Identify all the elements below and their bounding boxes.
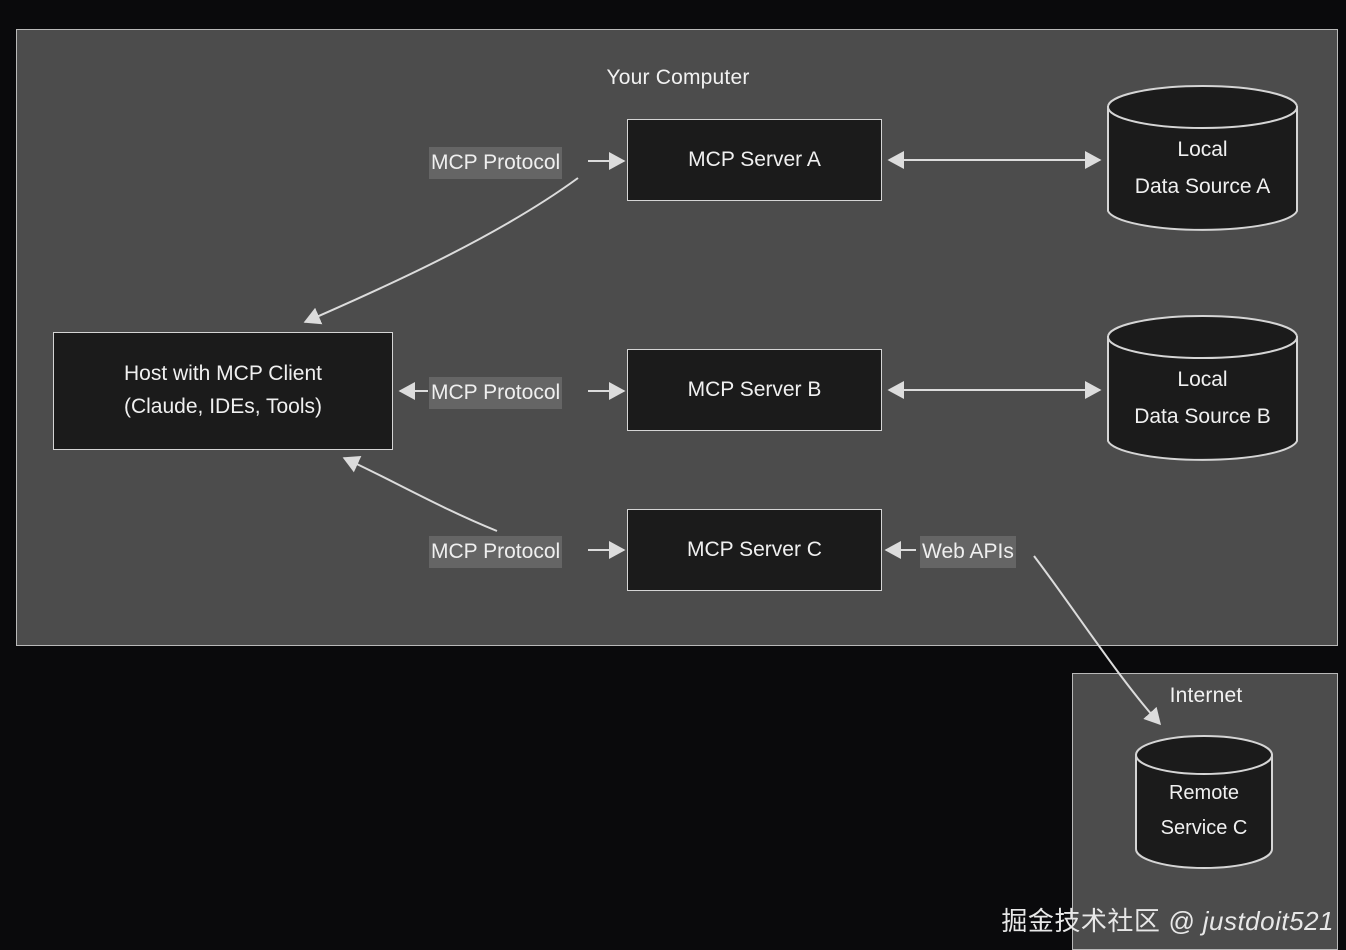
mcp-server-c-label: MCP Server C [687,534,822,567]
node-mcp-server-a[interactable]: MCP Server A [627,119,882,201]
data-source-a-line1: Local [1177,132,1227,169]
remote-service-c-line1: Remote [1169,776,1239,811]
node-local-data-source-b[interactable]: Local Data Source B [1107,315,1298,463]
edge-protocol-a-to-host [305,178,578,322]
node-host-with-mcp-client[interactable]: Host with MCP Client (Claude, IDEs, Tool… [53,332,393,450]
remote-service-c-line2: Service C [1161,811,1248,846]
host-line2: (Claude, IDEs, Tools) [124,391,322,424]
watermark: 掘金技术社区 @ justdoit521 [1001,901,1334,938]
edge-protocol-c-to-host [344,458,497,531]
edge-label-mcp-protocol-a: MCP Protocol [429,147,562,179]
node-mcp-server-c[interactable]: MCP Server C [627,509,882,591]
mcp-server-a-label: MCP Server A [688,144,821,177]
edge-label-mcp-protocol-b: MCP Protocol [429,377,562,409]
data-source-b-line2: Data Source B [1134,399,1271,436]
node-remote-service-c[interactable]: Remote Service C [1135,735,1273,869]
host-line1: Host with MCP Client [124,358,322,391]
data-source-b-line1: Local [1177,362,1227,399]
watermark-handle: @ justdoit521 [1168,906,1334,936]
data-source-a-line2: Data Source A [1135,169,1270,206]
edge-web-apis-to-remote-service-c [1034,556,1160,724]
node-mcp-server-b[interactable]: MCP Server B [627,349,882,431]
node-local-data-source-a[interactable]: Local Data Source A [1107,85,1298,233]
edge-label-mcp-protocol-c: MCP Protocol [429,536,562,568]
edge-label-web-apis: Web APIs [920,536,1016,568]
mcp-server-b-label: MCP Server B [688,374,822,407]
watermark-community: 掘金技术社区 [1001,906,1168,936]
diagram-canvas: Your Computer Internet [0,0,1346,950]
